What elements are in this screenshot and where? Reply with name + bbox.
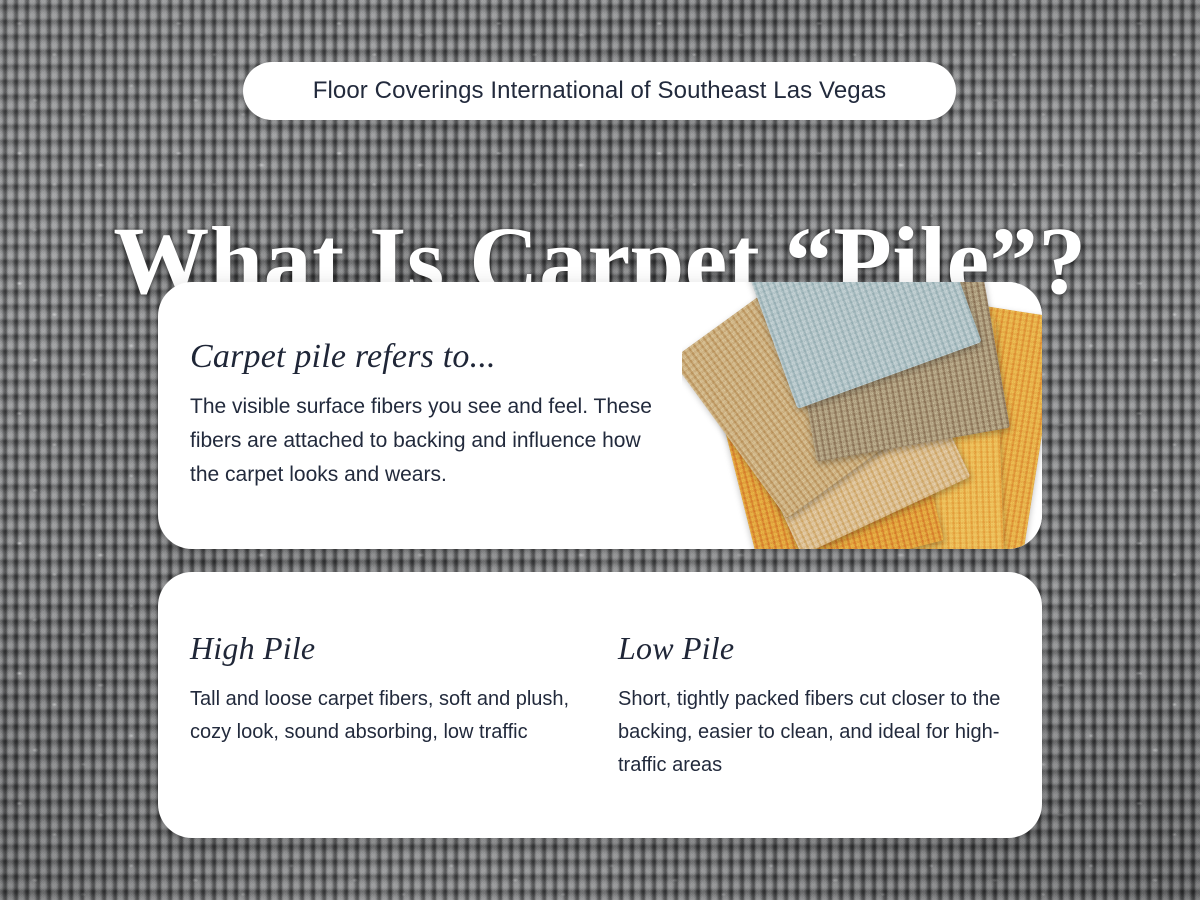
brand-name-label: Floor Coverings International of Southea… [313, 77, 887, 105]
brand-header-pill: Floor Coverings International of Southea… [243, 62, 956, 120]
infographic-canvas: Floor Coverings International of Southea… [0, 0, 1200, 900]
low-pile-text: Short, tightly packed fibers cut closer … [618, 683, 1010, 782]
high-pile-text: Tall and loose carpet fibers, soft and p… [190, 683, 582, 749]
high-pile-column: High Pile Tall and loose carpet fibers, … [190, 630, 582, 782]
high-pile-heading: High Pile [190, 630, 582, 667]
definition-paragraph: The visible surface fibers you see and f… [190, 390, 660, 492]
pile-comparison-card: High Pile Tall and loose carpet fibers, … [158, 572, 1042, 838]
low-pile-column: Low Pile Short, tightly packed fibers cu… [618, 630, 1010, 782]
definition-card: Carpet pile refers to... The visible sur… [158, 282, 1042, 549]
low-pile-heading: Low Pile [618, 630, 1010, 667]
definition-card-body: Carpet pile refers to... The visible sur… [190, 338, 660, 492]
definition-heading: Carpet pile refers to... [190, 338, 660, 376]
pile-comparison-grid: High Pile Tall and loose carpet fibers, … [190, 630, 1010, 782]
carpet-swatch-photo [682, 282, 1042, 549]
